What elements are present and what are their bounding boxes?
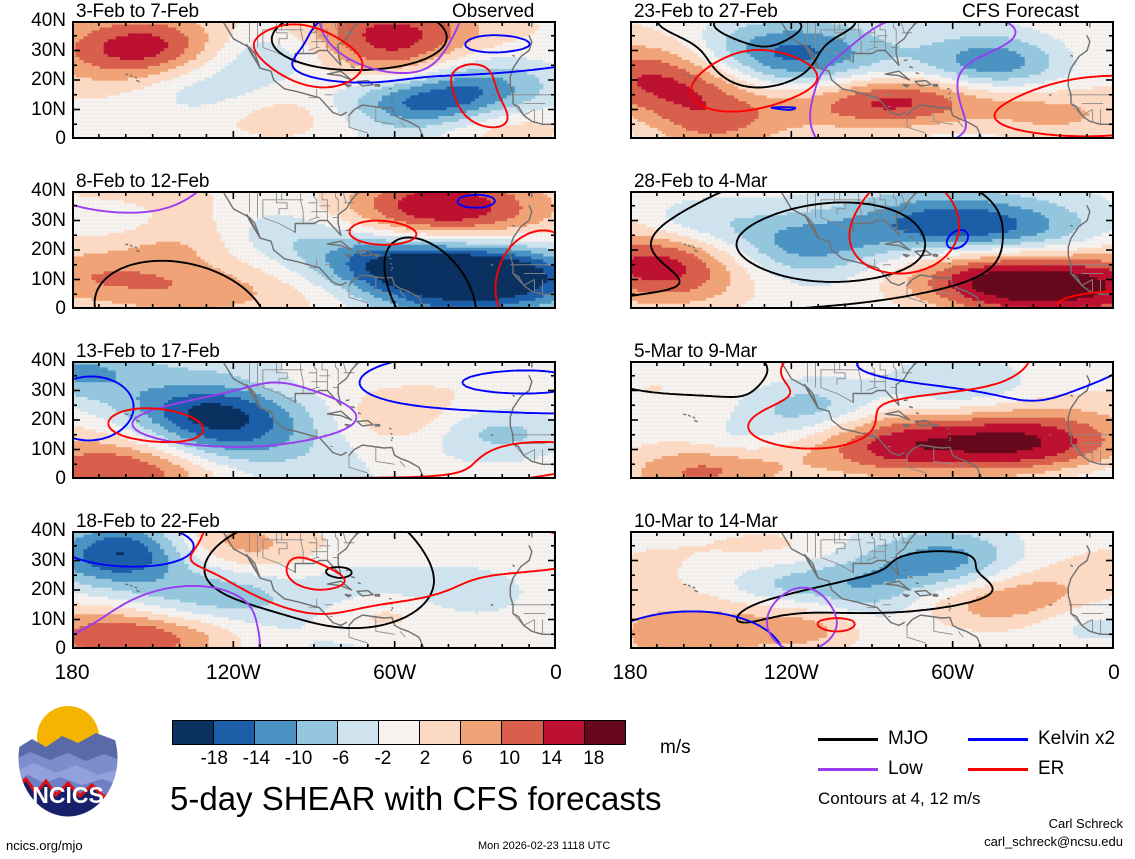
legend-label-kelvin-x2: Kelvin x2 xyxy=(1038,728,1115,750)
y-axis-label-obs-1-20N: 20N xyxy=(4,69,66,91)
x-axis-label-right-120W: 120W xyxy=(731,661,851,685)
y-axis-label-obs-3-40N: 40N xyxy=(4,350,66,372)
colorbar-cell-7 xyxy=(460,720,502,745)
y-axis-label-obs-2-0: 0 xyxy=(4,298,66,320)
y-axis-label-obs-1-10N: 10N xyxy=(4,99,66,121)
panel-title-obs-1: 3-Feb to 7-Feb xyxy=(76,1,199,23)
legend-label-mjo: MJO xyxy=(888,728,928,750)
map-panel-obs-4 xyxy=(72,531,556,649)
map-panel-fcs-1 xyxy=(630,21,1114,139)
main-title: 5-day SHEAR with CFS forecasts xyxy=(170,780,662,818)
map-panel-fcs-4 xyxy=(630,531,1114,649)
map-panel-obs-1 xyxy=(72,21,556,139)
panel-title-fcs-3: 5-Mar to 9-Mar xyxy=(634,341,757,363)
colorbar-cell-0 xyxy=(172,720,214,745)
contours-note: Contours at 4, 12 m/s xyxy=(818,789,981,809)
ncics-logo-text: NCICS xyxy=(32,782,104,808)
colorbar-cell-4 xyxy=(337,720,379,745)
y-axis-label-obs-1-0: 0 xyxy=(4,128,66,150)
map-canvas-obs-2 xyxy=(72,191,556,309)
y-axis-label-obs-4-30N: 30N xyxy=(4,550,66,572)
panel-title-fcs-4: 10-Mar to 14-Mar xyxy=(634,511,778,533)
x-axis-label-left-120W: 120W xyxy=(173,661,293,685)
map-canvas-obs-3 xyxy=(72,361,556,479)
map-canvas-fcs-4 xyxy=(630,531,1114,649)
x-axis-label-right-0: 0 xyxy=(1054,661,1135,685)
map-panel-fcs-3 xyxy=(630,361,1114,479)
colorbar-units-label: m/s xyxy=(660,737,691,759)
colorbar-cell-9 xyxy=(543,720,585,745)
y-axis-label-obs-1-30N: 30N xyxy=(4,40,66,62)
panel-title-fcs-1: 23-Feb to 27-Feb xyxy=(634,1,778,23)
y-axis-label-obs-4-20N: 20N xyxy=(4,579,66,601)
panel-title-obs-4: 18-Feb to 22-Feb xyxy=(76,511,220,533)
ncics-logo: NCICS xyxy=(16,697,120,819)
y-axis-label-obs-3-30N: 30N xyxy=(4,380,66,402)
y-axis-label-obs-1-40N: 40N xyxy=(4,10,66,32)
x-axis-label-right-60W: 60W xyxy=(893,661,1013,685)
colorbar-cell-5 xyxy=(378,720,420,745)
map-panel-obs-3 xyxy=(72,361,556,479)
colorbar-cell-1 xyxy=(213,720,255,745)
map-canvas-fcs-1 xyxy=(630,21,1114,139)
colorbar-cell-10 xyxy=(584,720,626,745)
y-axis-label-obs-2-20N: 20N xyxy=(4,239,66,261)
y-axis-label-obs-4-40N: 40N xyxy=(4,520,66,542)
y-axis-label-obs-2-30N: 30N xyxy=(4,210,66,232)
legend-label-er: ER xyxy=(1038,758,1064,780)
colorbar-cell-8 xyxy=(501,720,543,745)
y-axis-label-obs-2-10N: 10N xyxy=(4,269,66,291)
legend-swatch-er xyxy=(968,768,1028,771)
legend-swatch-kelvin-x2 xyxy=(968,738,1028,741)
panel-title-fcs-2: 28-Feb to 4-Mar xyxy=(634,171,767,193)
ncics-logo-svg: NCICS xyxy=(16,697,120,819)
credit-name: Carl Schreck xyxy=(1049,816,1123,831)
y-axis-label-obs-3-20N: 20N xyxy=(4,409,66,431)
map-panel-obs-2 xyxy=(72,191,556,309)
y-axis-label-obs-4-10N: 10N xyxy=(4,609,66,631)
credit-email: carl_schreck@ncsu.edu xyxy=(984,834,1123,849)
y-axis-label-obs-2-40N: 40N xyxy=(4,180,66,202)
legend-swatch-low xyxy=(818,768,878,771)
x-axis-label-left-180: 180 xyxy=(12,661,132,685)
y-axis-label-obs-3-10N: 10N xyxy=(4,439,66,461)
map-canvas-obs-4 xyxy=(72,531,556,649)
colorbar-cell-3 xyxy=(296,720,338,745)
colorbar-tick-18: 18 xyxy=(564,748,624,770)
map-panel-fcs-2 xyxy=(630,191,1114,309)
panel-title-obs-3: 13-Feb to 17-Feb xyxy=(76,341,220,363)
y-axis-label-obs-3-0: 0 xyxy=(4,468,66,490)
x-axis-label-left-60W: 60W xyxy=(335,661,455,685)
map-canvas-fcs-2 xyxy=(630,191,1114,309)
map-canvas-fcs-3 xyxy=(630,361,1114,479)
column-header-left: Observed xyxy=(452,1,534,23)
map-canvas-obs-1 xyxy=(72,21,556,139)
x-axis-label-right-180: 180 xyxy=(570,661,690,685)
site-url: ncics.org/mjo xyxy=(6,838,83,853)
column-header-right: CFS Forecast xyxy=(962,1,1079,23)
colorbar-cell-2 xyxy=(254,720,296,745)
colorbar xyxy=(172,720,636,745)
legend-label-low: Low xyxy=(888,758,923,780)
timestamp: Mon 2026-02-23 1118 UTC xyxy=(478,840,610,852)
panel-title-obs-2: 8-Feb to 12-Feb xyxy=(76,171,209,193)
y-axis-label-obs-4-0: 0 xyxy=(4,638,66,660)
colorbar-cell-6 xyxy=(419,720,461,745)
legend-swatch-mjo xyxy=(818,738,878,741)
